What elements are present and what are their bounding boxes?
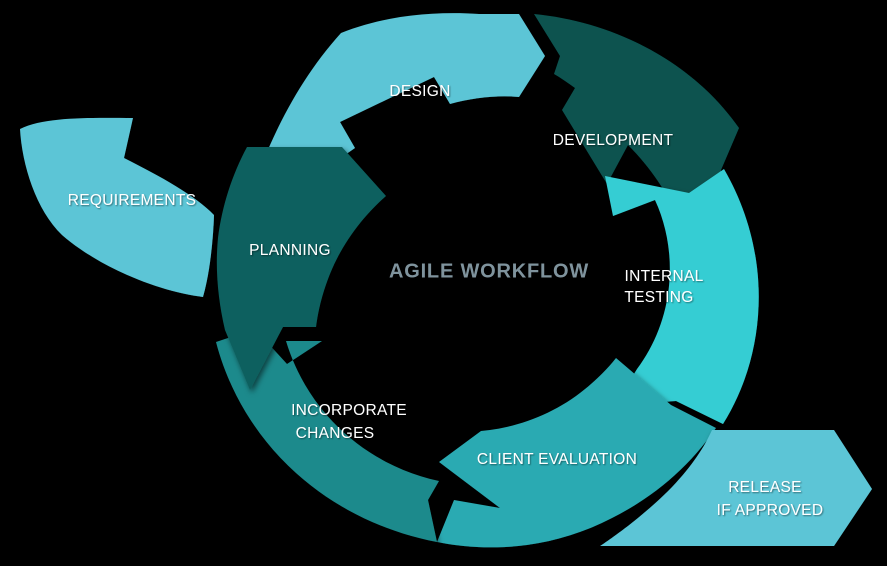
diagram-canvas: REQUIREMENTS DESIGN DEVELOPMENT INTERNAL… <box>0 0 887 566</box>
segment-release-if-approved-label-line1: RELEASE <box>728 479 802 496</box>
segment-incorporate-changes-label-line2: CHANGES <box>296 425 375 442</box>
segment-incorporate-changes-label-line1: INCORPORATE <box>291 402 407 419</box>
center-hub: AGILE WORKFLOW <box>382 175 589 369</box>
segment-development-label: DEVELOPMENT <box>553 132 674 149</box>
center-hub-label: AGILE WORKFLOW <box>389 260 589 282</box>
agile-workflow-diagram: REQUIREMENTS DESIGN DEVELOPMENT INTERNAL… <box>0 0 887 566</box>
segment-planning-label: PLANNING <box>249 242 331 259</box>
segment-client-evaluation-label: CLIENT EVALUATION <box>477 451 637 468</box>
segment-requirements[interactable]: REQUIREMENTS <box>20 118 214 297</box>
segment-release-if-approved-label-line2: IF APPROVED <box>717 502 824 519</box>
segment-requirements-label: REQUIREMENTS <box>68 192 196 209</box>
segment-internal-testing-label-line1: INTERNAL <box>624 268 703 285</box>
segment-internal-testing-label-line2: TESTING <box>624 289 693 306</box>
segment-design-label: DESIGN <box>389 83 450 100</box>
